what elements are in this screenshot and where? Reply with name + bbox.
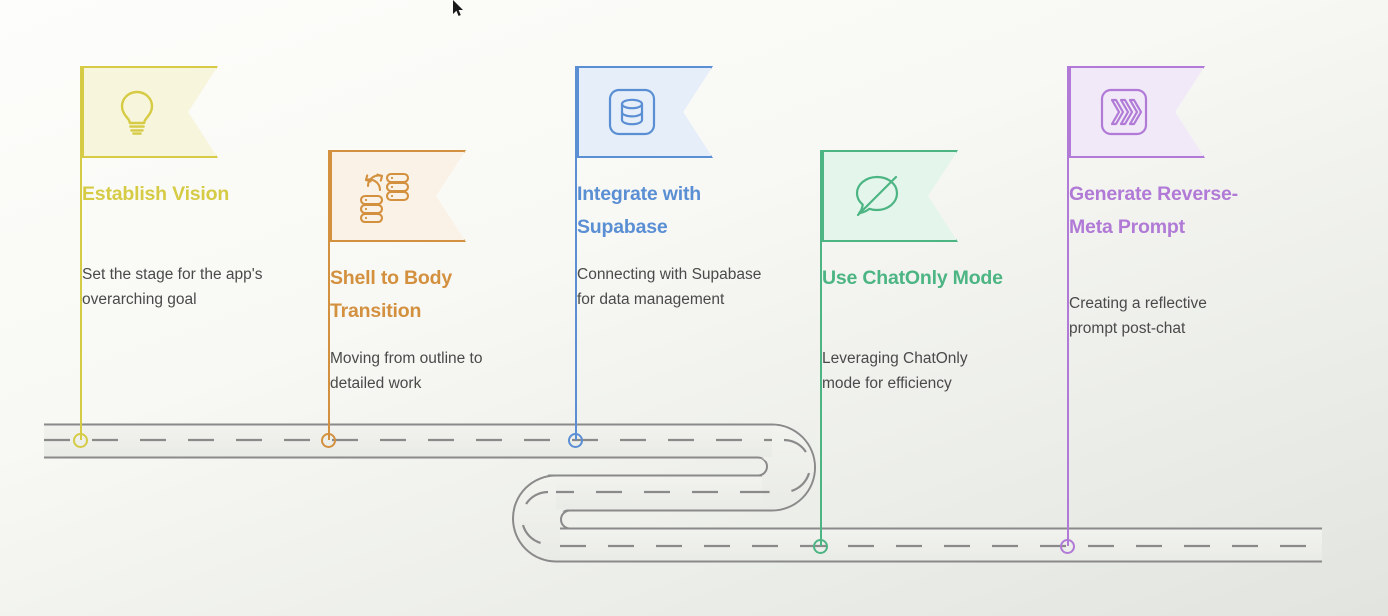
- road-marker-integrate-with-supabase: [568, 433, 583, 448]
- road-left-uturn: [513, 476, 1322, 562]
- milestone-pole: [80, 66, 82, 440]
- milestone-title: Establish Vision: [82, 178, 272, 211]
- road-upper-lane: [44, 423, 784, 458]
- milestone-title: Use ChatOnly Mode: [822, 262, 1012, 295]
- milestone-title: Shell to Body Transition: [330, 262, 520, 327]
- milestone-flag: [1069, 66, 1205, 158]
- road-lower-lane: [560, 529, 1322, 562]
- road-middle-lane: [548, 476, 762, 511]
- server-transfer-icon: [358, 169, 412, 223]
- milestone-flag: [330, 150, 466, 242]
- mouse-pointer-icon: [452, 0, 464, 18]
- milestone-title: Generate Reverse-Meta Prompt: [1069, 178, 1259, 243]
- milestone-description: Set the stage for the app's overarching …: [82, 262, 270, 312]
- milestone-description: Connecting with Supabase for data manage…: [577, 262, 765, 312]
- milestone-title: Integrate with Supabase: [577, 178, 767, 243]
- milestone-flag: [822, 150, 958, 242]
- lightbulb-icon: [110, 85, 164, 139]
- database-icon: [605, 85, 659, 139]
- milestone-flag: [577, 66, 713, 158]
- road-marker-shell-to-body-transition: [321, 433, 336, 448]
- milestone-description: Leveraging ChatOnly mode for efficiency: [822, 346, 1010, 396]
- road-marker-use-chatonly-mode: [813, 539, 828, 554]
- road-marker-establish-vision: [73, 433, 88, 448]
- roadmap-diagram: Establish Vision Set the stage for the a…: [0, 0, 1388, 616]
- road-right-uturn: [560, 425, 815, 511]
- triple-chevron-icon: [1097, 85, 1151, 139]
- chat-disabled-icon: [850, 169, 904, 223]
- milestone-description: Creating a reflective prompt post-chat: [1069, 291, 1257, 341]
- milestone-flag: [82, 66, 218, 158]
- milestone-description: Moving from outline to detailed work: [330, 346, 518, 396]
- road-marker-generate-reverse-meta-prompt: [1060, 539, 1075, 554]
- milestone-pole: [575, 66, 577, 440]
